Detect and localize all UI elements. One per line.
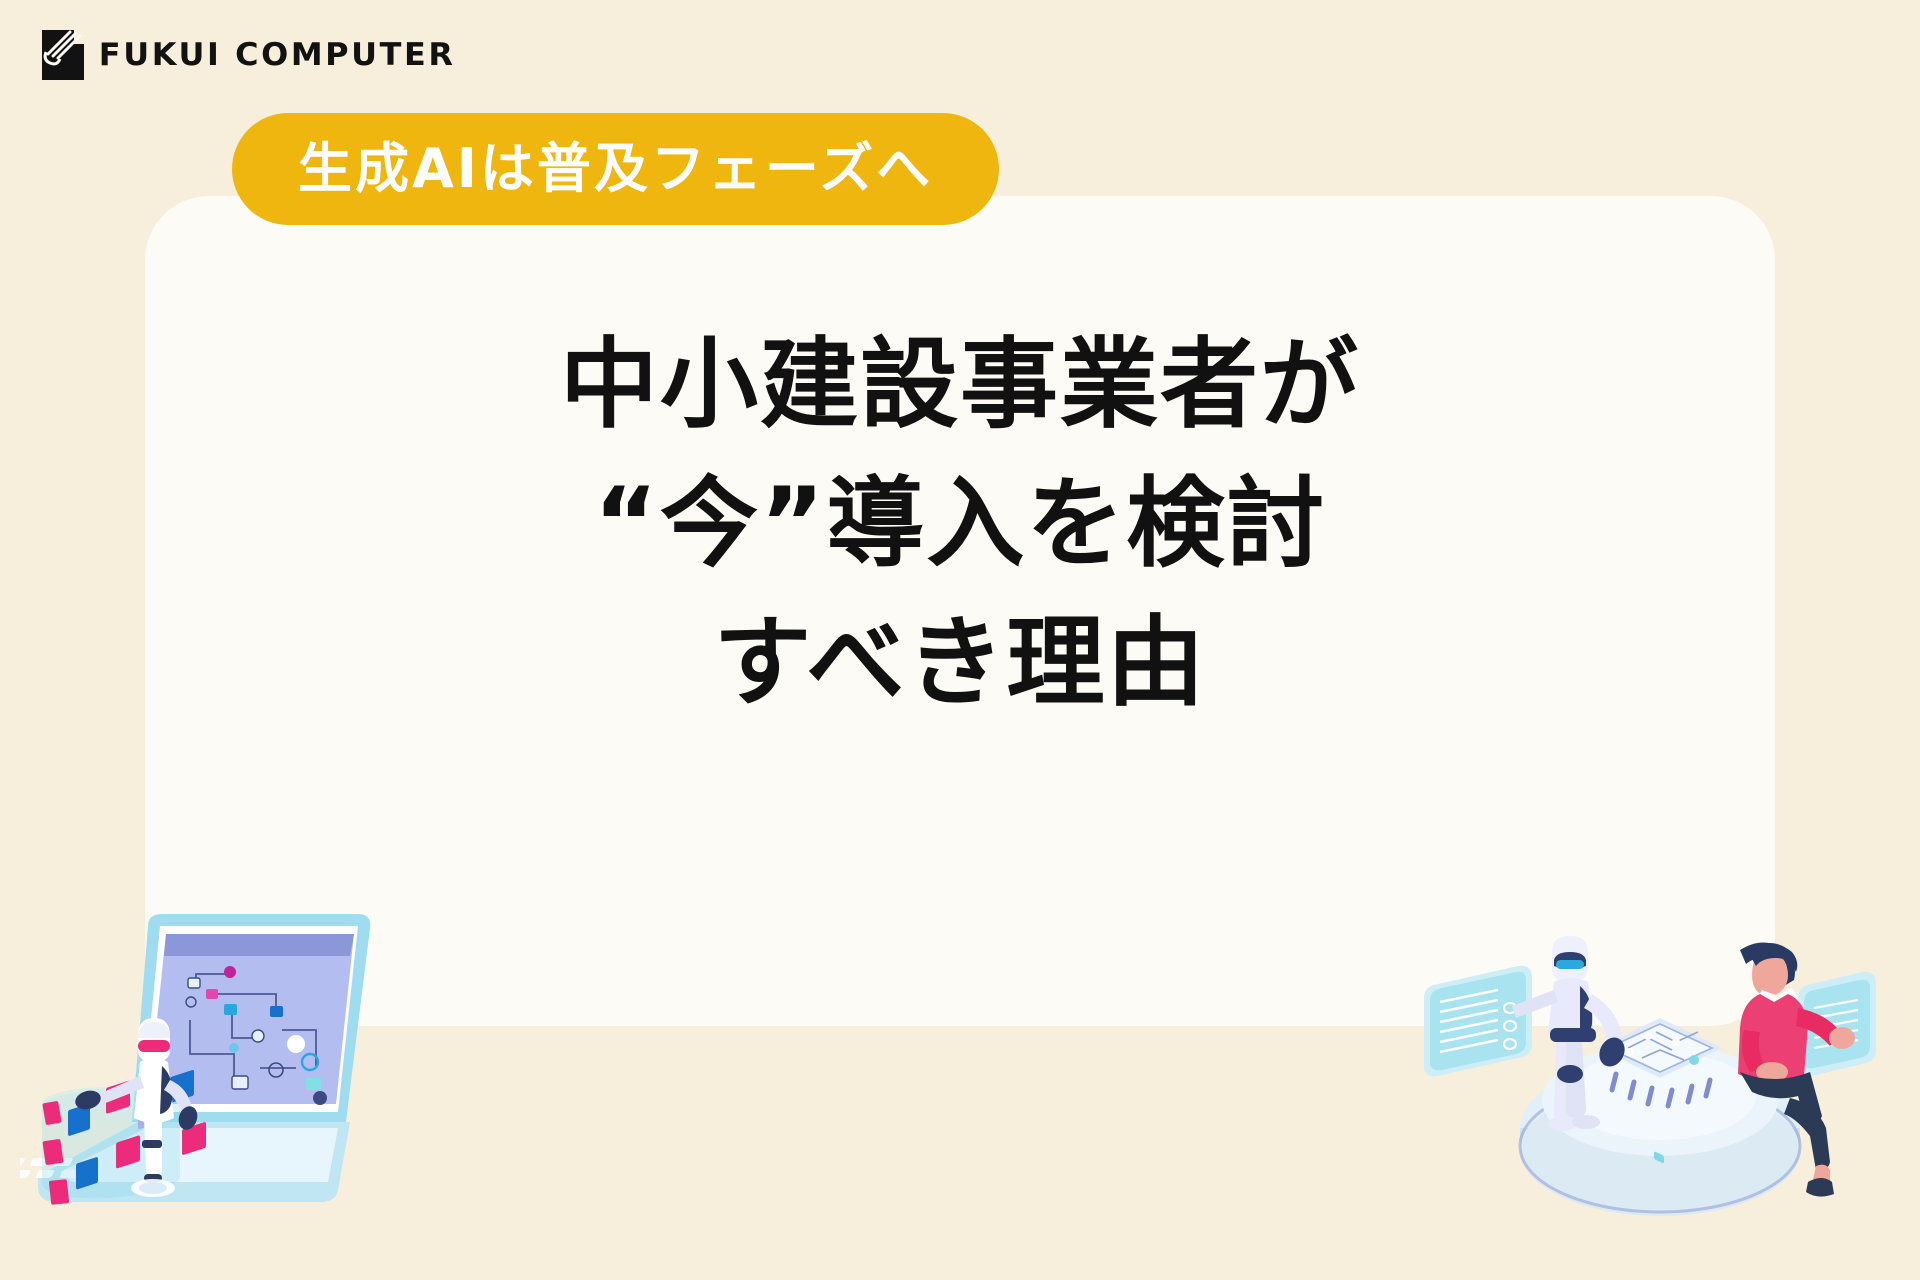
category-badge-label: 生成AIは普及フェーズへ — [298, 142, 933, 196]
content-card — [145, 196, 1775, 1026]
brand-logo: FUKUI COMPUTER — [40, 28, 450, 82]
laptop-robot-illustration — [20, 890, 380, 1230]
robot-and-person-illustration — [1410, 932, 1880, 1232]
fukui-computer-mark-icon — [40, 28, 86, 82]
brand-name: FUKUI COMPUTER — [99, 37, 456, 73]
category-badge: 生成AIは普及フェーズへ — [232, 113, 999, 225]
